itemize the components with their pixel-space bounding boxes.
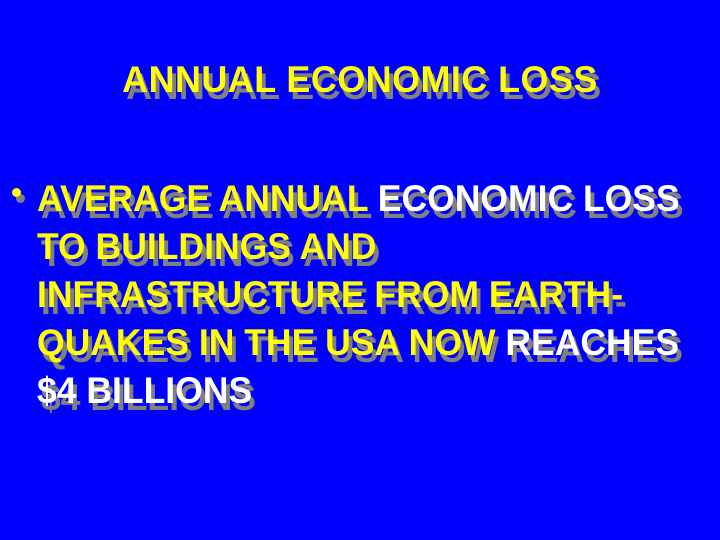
body-segment-2: ECONOMIC LOSS: [378, 178, 680, 219]
slide-title: ANNUAL ECONOMIC LOSS: [11, 58, 709, 102]
body-text: AVERAGE ANNUAL ECONOMIC LOSS TO BUILDING…: [37, 175, 685, 415]
slide-body-placeholder: AVERAGE ANNUAL ECONOMIC LOSS TO BUILDING…: [12, 175, 712, 415]
bullet-point-icon: [12, 188, 21, 197]
body-segment-1: AVERAGE ANNUAL: [37, 178, 378, 219]
bullet-list-item: AVERAGE ANNUAL ECONOMIC LOSS TO BUILDING…: [12, 175, 712, 415]
presentation-slide: ANNUAL ECONOMIC LOSS AVERAGE ANNUAL ECON…: [0, 0, 720, 540]
